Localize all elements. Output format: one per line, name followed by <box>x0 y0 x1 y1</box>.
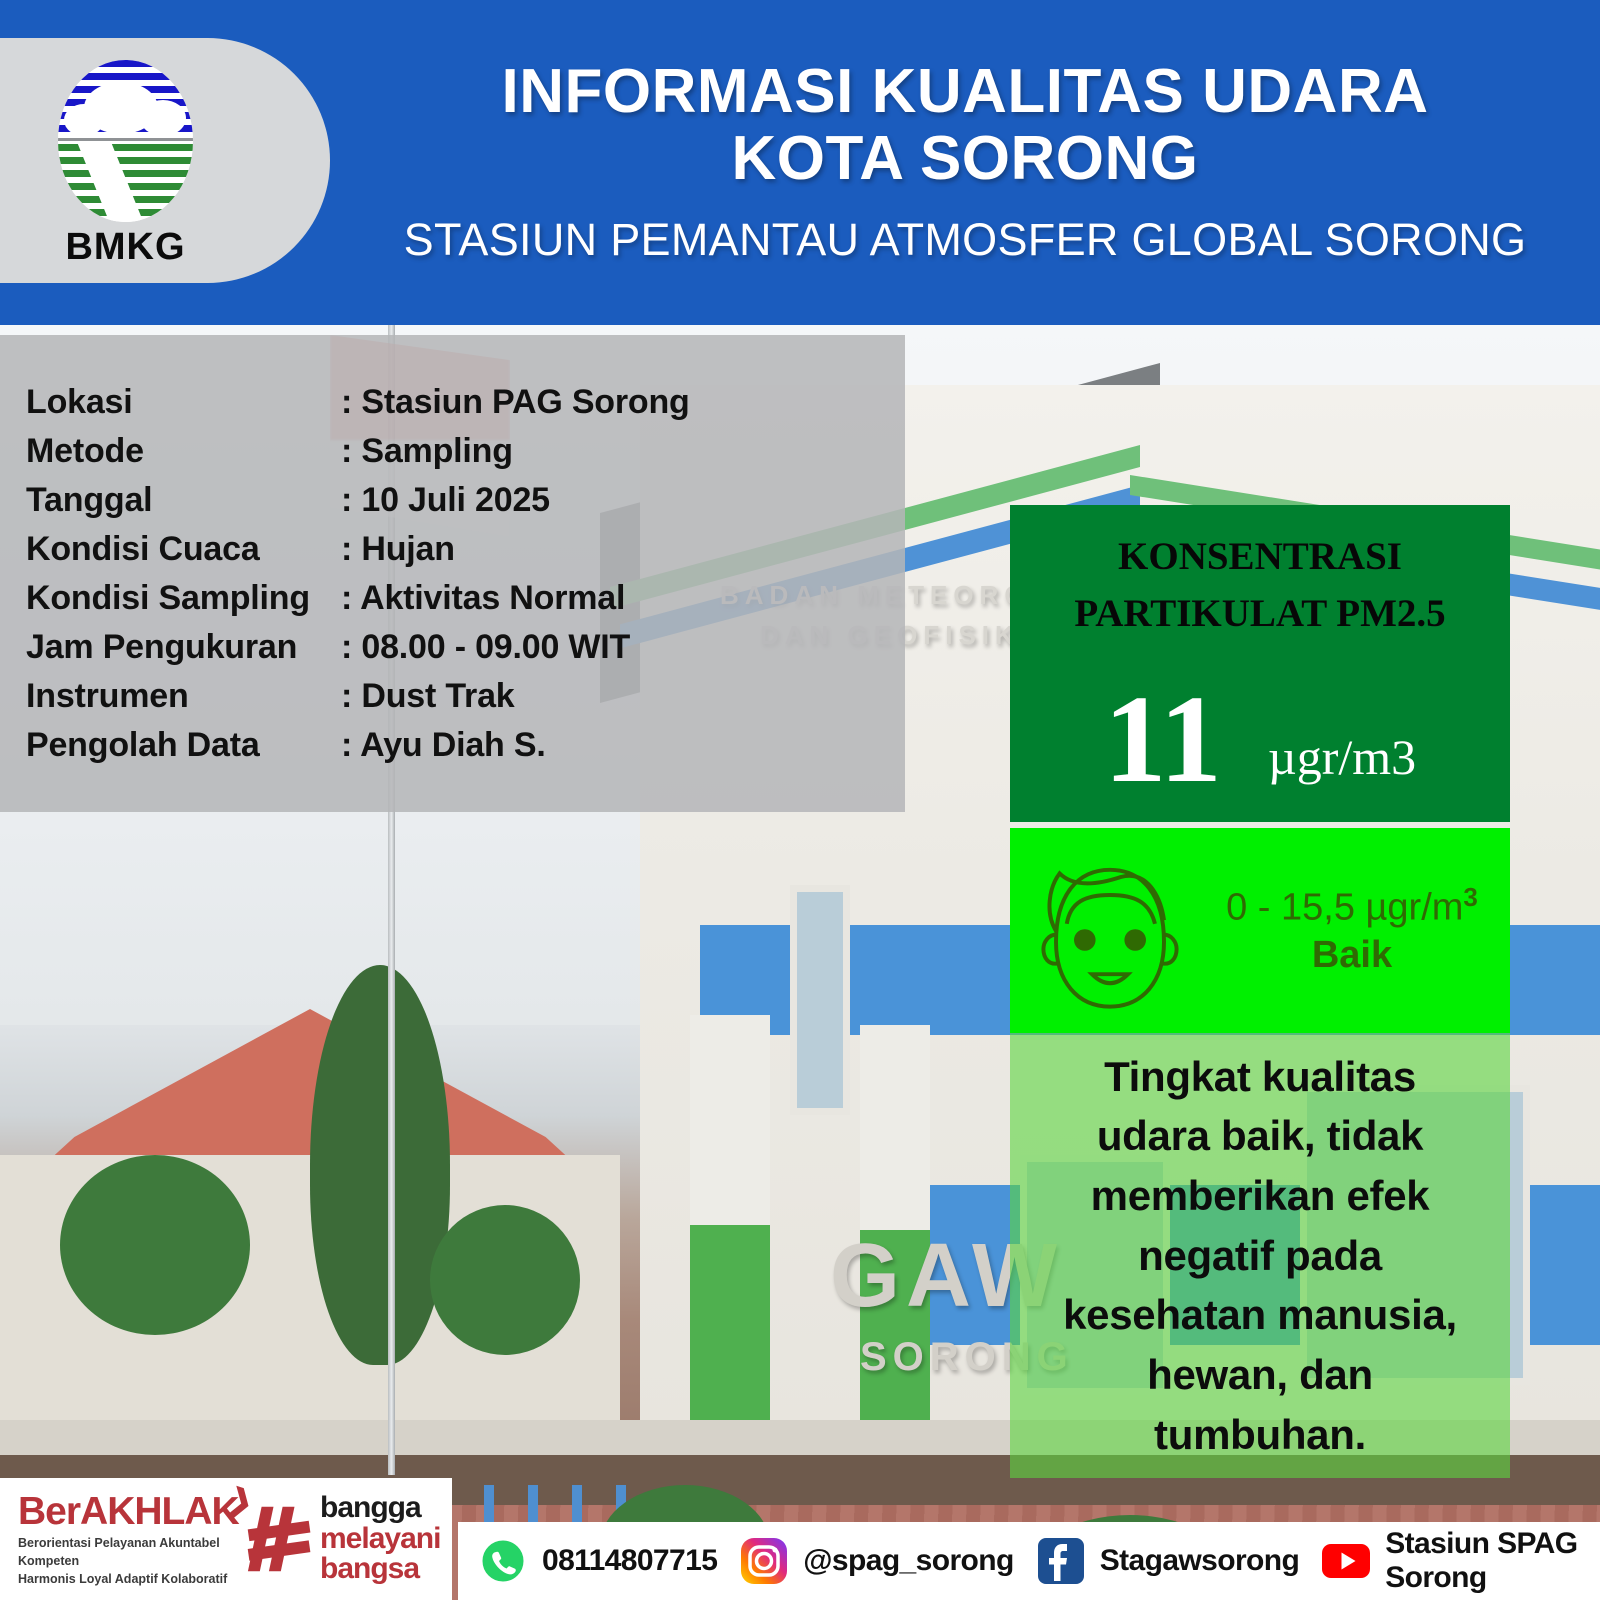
info-row-value: : Ayu Diah S. <box>341 726 546 765</box>
bmkg-wordmark: BMKG <box>58 226 193 269</box>
category-text-block: 0 - 15,5 µgr/m3 Baik <box>1200 881 1510 980</box>
social-contact-label: 08114807715 <box>542 1544 717 1578</box>
facebook-icon[interactable] <box>1036 1536 1086 1586</box>
bmkg-cloud-3 <box>140 100 186 136</box>
category-label: Baik <box>1200 932 1504 980</box>
air-quality-description-panel: Tingkat kualitas udara baik, tidak membe… <box>1010 1033 1510 1478</box>
bmkg-horizon-line <box>58 138 193 141</box>
info-row: Jam Pengukuran: 08.00 - 09.00 WIT <box>26 628 690 677</box>
info-row: Kondisi Sampling: Aktivitas Normal <box>26 579 690 628</box>
pm25-value: 11 <box>1104 678 1222 803</box>
whatsapp-icon[interactable] <box>478 1536 528 1586</box>
shrub-2 <box>430 1205 580 1355</box>
info-row-label: Jam Pengukuran <box>26 628 341 667</box>
berakhlak-subtitle-1: Berorientasi Pelayanan Akuntabel Kompete… <box>18 1534 236 1570</box>
bmkg-ellipse <box>58 60 193 222</box>
pm25-concentration-panel: KONSENTRASI PARTIKULAT PM2.5 11 µgr/m3 <box>1010 505 1510 822</box>
berakhlak-subtitle-2: Harmonis Loyal Adaptif Kolaboratif <box>18 1570 236 1588</box>
info-row: Metode: Sampling <box>26 432 690 481</box>
info-row-value: : Aktivitas Normal <box>341 579 625 618</box>
page-title-line2: KOTA SORONG <box>731 126 1198 193</box>
pm25-value-row: 11 µgr/m3 <box>1010 665 1510 815</box>
header-title-block: INFORMASI KUALITAS UDARA KOTA SORONG STA… <box>330 0 1600 325</box>
info-row: Lokasi: Stasiun PAG Sorong <box>26 383 690 432</box>
instagram-icon[interactable] <box>739 1536 789 1586</box>
info-row-label: Instrumen <box>26 677 341 716</box>
smiley-face-icon <box>1020 841 1200 1021</box>
measurement-info-panel: Lokasi: Stasiun PAG SorongMetode: Sampli… <box>0 335 905 812</box>
air-quality-description: Tingkat kualitas udara baik, tidak membe… <box>1045 1047 1475 1464</box>
social-contact-item[interactable]: Stagawsorong <box>1036 1536 1300 1586</box>
infographic-poster: BADAN METEOROLOGI, KLIMATOLOGI DAN GEOFI… <box>0 0 1600 1600</box>
info-row-label: Lokasi <box>26 383 341 422</box>
info-row: Instrumen : Dust Trak <box>26 677 690 726</box>
social-contact-item[interactable]: @spag_sorong <box>739 1536 1013 1586</box>
social-contact-label: Stasiun SPAG Sorong <box>1385 1527 1600 1595</box>
category-range-exponent: 3 <box>1463 882 1477 912</box>
conifer-tree <box>310 965 450 1365</box>
word-bangga: bangga <box>320 1493 440 1524</box>
social-contact-label: @spag_sorong <box>803 1544 1013 1578</box>
berakhlak-title-text: BerAKHLAK <box>18 1490 239 1533</box>
word-melayani: melayani <box>320 1524 440 1555</box>
info-row-value: : 08.00 - 09.00 WIT <box>341 628 630 667</box>
header-banner: BMKG INFORMASI KUALITAS UDARA KOTA SORON… <box>0 0 1600 325</box>
hashtag-icon <box>244 1502 314 1576</box>
berakhlak-title: BerAKHLAK ❯ <box>18 1490 236 1534</box>
pm25-heading-line2: PARTIKULAT PM2.5 <box>1010 586 1510 643</box>
berakhlak-logo-box: BerAKHLAK ❯ Berorientasi Pelayanan Akunt… <box>0 1478 452 1600</box>
info-row-value: : Stasiun PAG Sorong <box>341 383 690 422</box>
info-row-label: Kondisi Sampling <box>26 579 341 618</box>
word-bangsa: bangsa <box>320 1554 440 1585</box>
bmkg-logo-icon <box>58 60 193 222</box>
info-row: Tanggal: 10 Juli 2025 <box>26 481 690 530</box>
info-row-value: : Hujan <box>341 530 455 569</box>
bangga-melayani-block: bangga melayani bangsa <box>244 1493 440 1585</box>
pm25-heading: KONSENTRASI PARTIKULAT PM2.5 <box>1010 529 1510 642</box>
page-title-line1: INFORMASI KUALITAS UDARA <box>501 59 1428 126</box>
page-subtitle: STASIUN PEMANTAU ATMOSFER GLOBAL SORONG <box>404 214 1527 266</box>
pm25-heading-line1: KONSENTRASI <box>1010 529 1510 586</box>
pm25-unit: µgr/m3 <box>1268 728 1416 786</box>
info-row-value: : Dust Trak <box>341 677 515 716</box>
social-contact-item[interactable]: Stasiun SPAG Sorong <box>1321 1527 1600 1595</box>
info-row-label: Tanggal <box>26 481 341 520</box>
shrub-1 <box>60 1155 250 1335</box>
category-range: 0 - 15,5 µgr/m <box>1226 887 1463 929</box>
social-contact-item[interactable]: 08114807715 <box>478 1536 717 1586</box>
berakhlak-text-block: BerAKHLAK ❯ Berorientasi Pelayanan Akunt… <box>0 1490 236 1588</box>
info-row-list: Lokasi: Stasiun PAG SorongMetode: Sampli… <box>26 383 690 775</box>
window-1 <box>790 885 850 1115</box>
social-contact-bar: 08114807715@spag_sorongStagawsorongStasi… <box>458 1522 1600 1600</box>
info-row: Pengolah Data : Ayu Diah S. <box>26 726 690 775</box>
bangga-melayani-words: bangga melayani bangsa <box>320 1493 440 1585</box>
info-row-value: : Sampling <box>341 432 513 471</box>
info-row-label: Kondisi Cuaca <box>26 530 341 569</box>
info-row-value: : 10 Juli 2025 <box>341 481 550 520</box>
category-range-line: 0 - 15,5 µgr/m3 <box>1200 881 1504 932</box>
air-quality-category-band: 0 - 15,5 µgr/m3 Baik <box>1010 828 1510 1033</box>
info-row: Kondisi Cuaca: Hujan <box>26 530 690 579</box>
social-contact-label: Stagawsorong <box>1100 1544 1300 1578</box>
logo-pill: BMKG <box>0 38 330 283</box>
bmkg-cloud-2 <box>64 104 104 136</box>
info-row-label: Pengolah Data <box>26 726 341 765</box>
youtube-icon[interactable] <box>1321 1536 1371 1586</box>
info-row-label: Metode <box>26 432 341 471</box>
